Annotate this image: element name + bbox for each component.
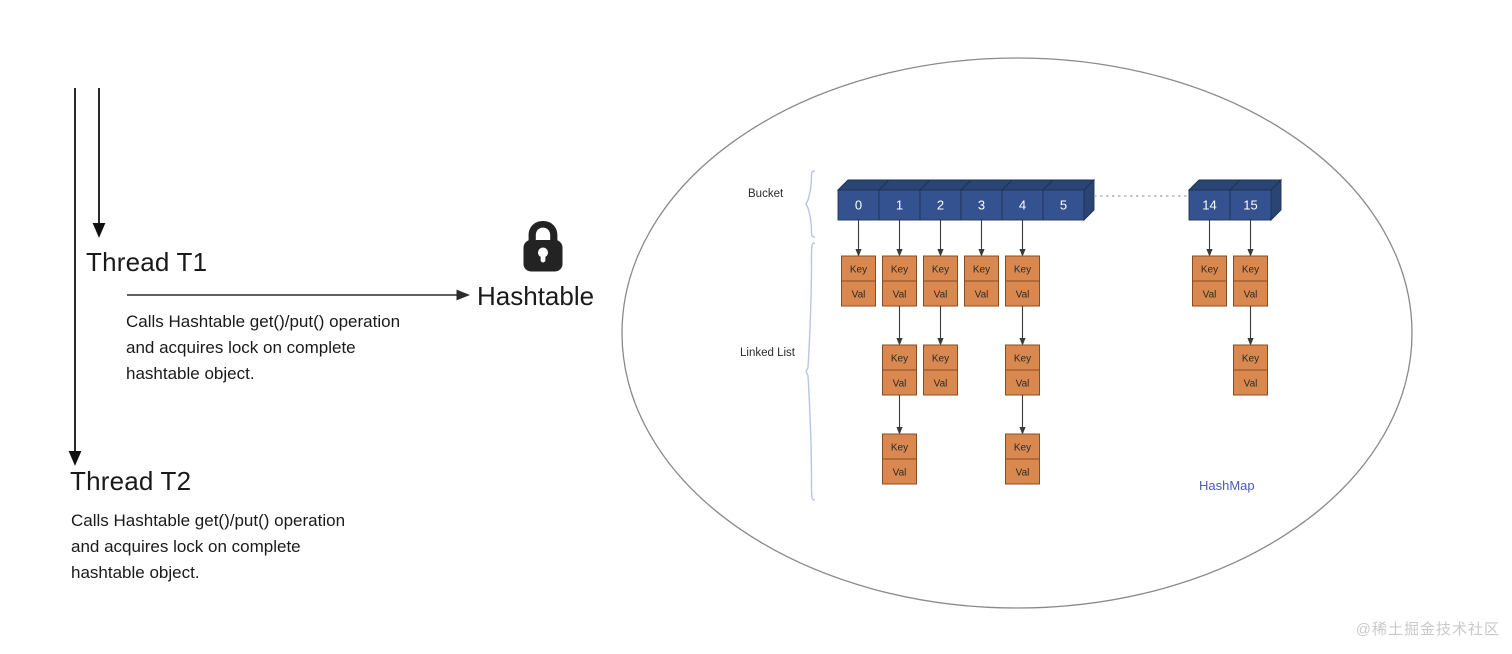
bucket-brace <box>806 171 815 237</box>
node-val-label: Val <box>934 290 948 301</box>
node-val-label: Val <box>1244 379 1258 390</box>
list-node-b0-0[interactable]: KeyVal <box>842 256 876 306</box>
node-key-label: Key <box>932 354 949 365</box>
hashmap-boundary-ellipse <box>622 58 1412 608</box>
list-node-b4-0[interactable]: KeyVal <box>1006 256 1040 306</box>
list-node-b2-0[interactable]: KeyVal <box>924 256 958 306</box>
hashmap-diagram: 0123451415KeyValKeyValKeyValKeyValKeyVal… <box>0 0 1512 649</box>
node-val-label: Val <box>1244 290 1258 301</box>
linked-list-brace <box>806 243 815 500</box>
node-key-label: Key <box>1242 265 1259 276</box>
node-key-label: Key <box>1014 443 1031 454</box>
node-val-label: Val <box>852 290 866 301</box>
node-key-label: Key <box>891 354 908 365</box>
bucket-cell-label: 4 <box>1019 198 1026 213</box>
node-val-label: Val <box>893 290 907 301</box>
bucket-cell-label: 3 <box>978 198 985 213</box>
node-val-label: Val <box>934 379 948 390</box>
node-key-label: Key <box>850 265 867 276</box>
list-node-b4-1[interactable]: KeyVal <box>1006 345 1040 395</box>
list-node-b15-1[interactable]: KeyVal <box>1234 345 1268 395</box>
node-val-label: Val <box>1016 290 1030 301</box>
bucket-cell-label: 5 <box>1060 198 1067 213</box>
node-key-label: Key <box>891 265 908 276</box>
list-node-b1-1[interactable]: KeyVal <box>883 345 917 395</box>
list-node-b1-0[interactable]: KeyVal <box>883 256 917 306</box>
bucket-cell-label: 15 <box>1243 198 1257 213</box>
node-val-label: Val <box>1016 379 1030 390</box>
node-key-label: Key <box>1242 354 1259 365</box>
node-key-label: Key <box>891 443 908 454</box>
node-val-label: Val <box>1203 290 1217 301</box>
list-node-b1-2[interactable]: KeyVal <box>883 434 917 484</box>
node-val-label: Val <box>1016 468 1030 479</box>
bucket-cell-label: 2 <box>937 198 944 213</box>
bucket-cell-label: 1 <box>896 198 903 213</box>
list-node-b3-0[interactable]: KeyVal <box>965 256 999 306</box>
watermark: @稀土掘金技术社区 <box>1356 618 1500 639</box>
list-node-b2-1[interactable]: KeyVal <box>924 345 958 395</box>
node-key-label: Key <box>1014 265 1031 276</box>
bucket-cell-label: 14 <box>1202 198 1216 213</box>
list-node-b4-2[interactable]: KeyVal <box>1006 434 1040 484</box>
node-val-label: Val <box>975 290 989 301</box>
node-key-label: Key <box>973 265 990 276</box>
node-key-label: Key <box>1014 354 1031 365</box>
node-key-label: Key <box>932 265 949 276</box>
list-node-b14-0[interactable]: KeyVal <box>1193 256 1227 306</box>
bucket-cell-label: 0 <box>855 198 862 213</box>
node-val-label: Val <box>893 379 907 390</box>
list-node-b15-0[interactable]: KeyVal <box>1234 256 1268 306</box>
node-val-label: Val <box>893 468 907 479</box>
node-key-label: Key <box>1201 265 1218 276</box>
hashmap-structure-panel: 0123451415KeyValKeyValKeyValKeyValKeyVal… <box>0 0 1512 649</box>
